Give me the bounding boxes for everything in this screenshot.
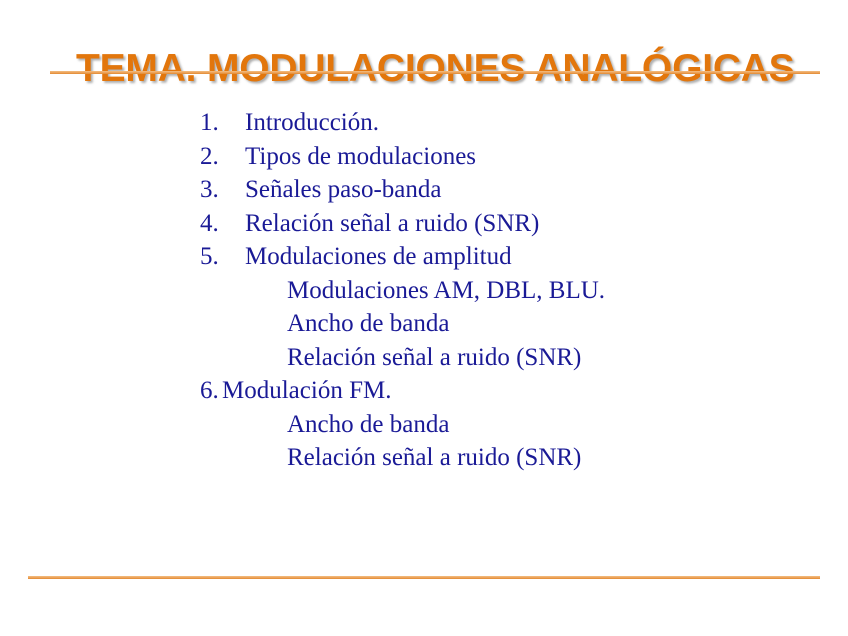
outline-item-number: 5. [200,240,245,274]
outline-sub-item: Ancho de banda [200,307,800,341]
outline-item: 5.Modulaciones de amplitud [200,240,800,274]
outline-item: 1.Introducción. [200,106,800,140]
outline-sub-item-label: Ancho de banda [287,307,449,341]
outline-item-number: 3. [200,173,245,207]
outline-item-number: 2. [200,140,245,174]
title-divider-rule [50,71,820,74]
outline-sub-item: Ancho de banda [200,408,800,442]
outline-item: 2.Tipos de modulaciones [200,140,800,174]
outline-item: 4.Relación señal a ruido (SNR) [200,207,800,241]
outline-list: 1.Introducción.2.Tipos de modulaciones3.… [200,106,800,475]
outline-item-label: Introducción. [245,106,379,140]
outline-item-label: Señales paso-banda [245,173,441,207]
outline-sub-item-label: Ancho de banda [287,408,449,442]
outline-item-label: Modulaciones de amplitud [245,240,512,274]
outline-sub-item-label: Relación señal a ruido (SNR) [287,341,581,375]
outline-sub-item: Modulaciones AM, DBL, BLU. [200,274,800,308]
outline-sub-item-label: Relación señal a ruido (SNR) [287,441,581,475]
outline-item-number: 1. [200,106,245,140]
outline-item-label: Tipos de modulaciones [245,140,476,174]
outline-sub-item: Relación señal a ruido (SNR) [200,341,800,375]
outline-sub-item: Relación señal a ruido (SNR) [200,441,800,475]
outline-item-number: 4. [200,207,245,241]
outline-item-label: Modulación FM. [222,374,391,408]
footer-divider-rule [28,576,820,579]
outline-item-number: 6. [200,374,222,408]
outline-sub-item-label: Modulaciones AM, DBL, BLU. [287,274,605,308]
outline-item: 6.Modulación FM. [200,374,800,408]
outline-item-label: Relación señal a ruido (SNR) [245,207,539,241]
page-title: TEMA. MODULACIONES ANALÓGICAS [76,46,816,92]
outline-item: 3.Señales paso-banda [200,173,800,207]
slide-canvas: TEMA. MODULACIONES ANALÓGICAS 1.Introduc… [0,0,848,636]
